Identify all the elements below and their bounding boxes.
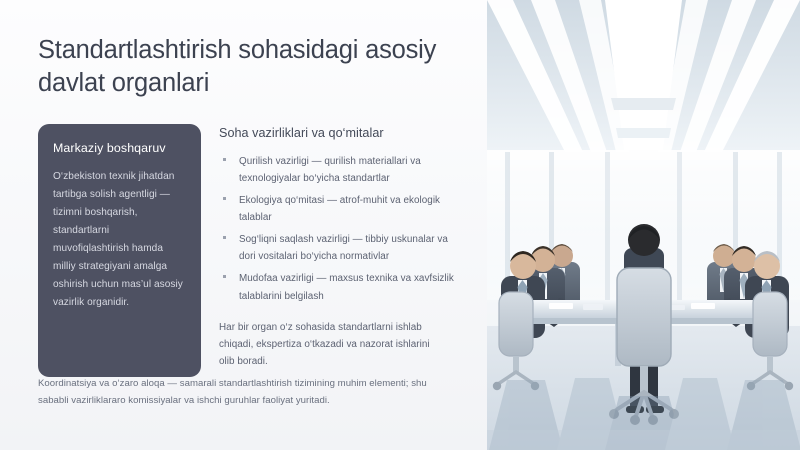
list-item-label: Sog‘liqni saqlash vazirligi — tibbiy usk…: [239, 234, 448, 262]
list-item-label: Qurilish vazirligi — qurilish materialla…: [239, 156, 421, 184]
bullet-marker-icon: [223, 275, 226, 278]
content-area: Standartlashtirish sohasidagi asosiy dav…: [0, 0, 487, 450]
section-heading: Soha vazirliklari va qo‘mitalar: [219, 126, 457, 140]
list-item: Qurilish vazirligi — qurilish materialla…: [219, 153, 457, 187]
list-item-label: Mudofaa vazirligi — maxsus texnika va xa…: [239, 273, 454, 301]
card-title: Markaziy boshqaruv: [53, 141, 185, 155]
bullet-marker-icon: [223, 158, 226, 161]
bullet-marker-icon: [223, 236, 226, 239]
closing-paragraph: Har bir organ o‘z sohasida standartlarni…: [219, 319, 434, 370]
two-column-layout: Markaziy boshqaruv O‘zbekiston texnik ji…: [38, 124, 457, 377]
boardroom-illustration: [487, 0, 800, 450]
card-body-text: O‘zbekiston texnik jihatdan tartibga sol…: [53, 168, 185, 312]
list-item: Mudofaa vazirligi — maxsus texnika va xa…: [219, 270, 457, 304]
central-management-card: Markaziy boshqaruv O‘zbekiston texnik ji…: [38, 124, 201, 377]
list-item-label: Ekologiya qo‘mitasi — atrof-muhit va eko…: [239, 195, 440, 223]
boardroom-photo: [487, 0, 800, 450]
page-title: Standartlashtirish sohasidagi asosiy dav…: [38, 34, 438, 100]
footer-note: Koordinatsiya va o‘zaro aloqa — samarali…: [38, 376, 458, 410]
ministries-list: Qurilish vazirligi — qurilish materialla…: [219, 153, 457, 304]
list-item: Ekologiya qo‘mitasi — atrof-muhit va eko…: [219, 192, 457, 226]
bullet-marker-icon: [223, 197, 226, 200]
list-item: Sog‘liqni saqlash vazirligi — tibbiy usk…: [219, 231, 457, 265]
sector-ministries-column: Soha vazirliklari va qo‘mitalar Qurilish…: [219, 124, 457, 377]
slide-canvas: Standartlashtirish sohasidagi asosiy dav…: [0, 0, 800, 450]
